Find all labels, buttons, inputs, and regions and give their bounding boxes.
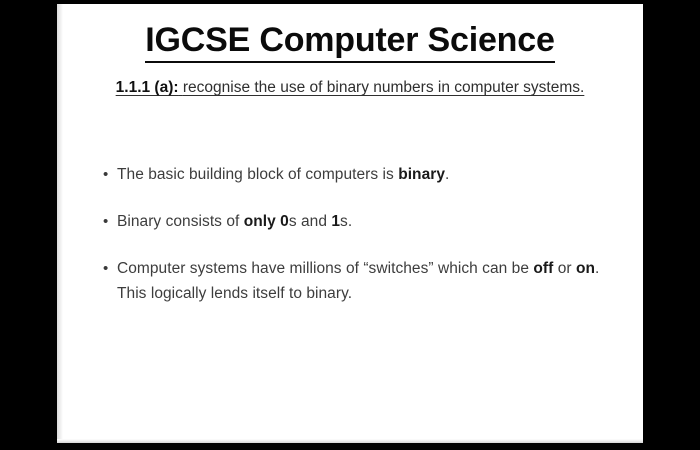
- video-letterbox-frame: IGCSE Computer Science 1.1.1 (a): recogn…: [0, 0, 700, 450]
- page-title: IGCSE Computer Science: [57, 21, 643, 60]
- bullet-list: • The basic building block of computers …: [97, 162, 617, 328]
- page-title-text: IGCSE Computer Science: [145, 21, 554, 63]
- learning-objective: 1.1.1 (a): recognise the use of binary n…: [103, 76, 597, 100]
- list-item-text: Computer systems have millions of “switc…: [117, 256, 617, 306]
- bullet-point-icon: •: [97, 256, 117, 281]
- bullet-point-icon: •: [97, 209, 117, 234]
- list-item: • Binary consists of only 0s and 1s.: [97, 209, 617, 234]
- slide-canvas: IGCSE Computer Science 1.1.1 (a): recogn…: [57, 4, 643, 443]
- learning-objective-text: recognise the use of binary numbers in c…: [183, 79, 584, 96]
- list-item-text: The basic building block of computers is…: [117, 162, 617, 187]
- list-item-text: Binary consists of only 0s and 1s.: [117, 209, 617, 234]
- learning-objective-code: 1.1.1 (a):: [116, 79, 179, 96]
- list-item: • The basic building block of computers …: [97, 162, 617, 187]
- bullet-point-icon: •: [97, 162, 117, 187]
- list-item: • Computer systems have millions of “swi…: [97, 256, 617, 306]
- learning-objective-underline: 1.1.1 (a): recognise the use of binary n…: [116, 79, 585, 96]
